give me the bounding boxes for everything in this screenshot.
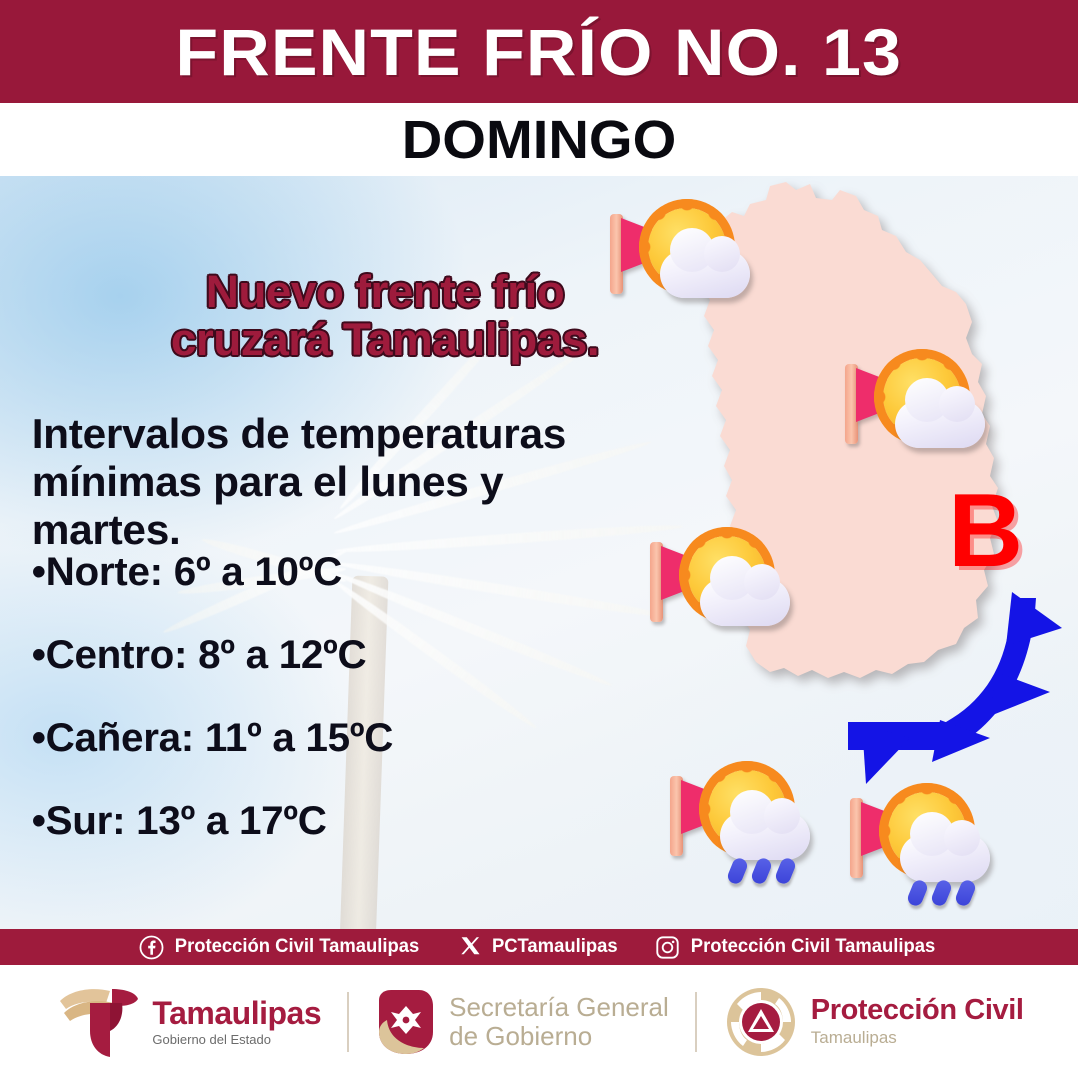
cold-front-symbol bbox=[800, 570, 1070, 830]
rain-drop-icon bbox=[954, 878, 978, 908]
secretaria-wordmark: Secretaría General de Gobierno bbox=[449, 993, 669, 1051]
footer-logo-strip: Tamaulipas Gobierno del Estado Secretarí… bbox=[0, 965, 1078, 1079]
headline: Nuevo frente frío cruzará Tamaulipas. bbox=[120, 268, 650, 363]
cold-front-barb bbox=[990, 672, 1050, 716]
proteccion-tagline: Tamaulipas bbox=[811, 1028, 1024, 1048]
body-line-3: martes. bbox=[32, 506, 699, 554]
facebook-icon[interactable] bbox=[139, 935, 164, 960]
cloud-icon bbox=[720, 812, 810, 860]
cloud-icon bbox=[700, 578, 790, 626]
logo-tamaulipas: Tamaulipas Gobierno del Estado bbox=[28, 983, 347, 1061]
weather-icon-suroeste bbox=[668, 770, 818, 880]
poster-root: FRENTE FRÍO NO. 13 DOMINGO Nuevo frente … bbox=[0, 0, 1078, 1079]
headline-line-2: cruzará Tamaulipas. bbox=[120, 316, 650, 364]
list-item: •Sur: 13º a 17ºC bbox=[32, 799, 678, 844]
secretaria-line-1: Secretaría General bbox=[449, 993, 669, 1022]
proteccion-name: Protección Civil bbox=[811, 996, 1024, 1025]
list-item: •Norte: 6º a 10ºC bbox=[32, 550, 678, 595]
proteccion-civil-icon bbox=[723, 984, 799, 1060]
proteccion-wordmark: Protección Civil Tamaulipas bbox=[811, 996, 1024, 1048]
rain-drop-icon bbox=[930, 878, 954, 908]
x-icon[interactable] bbox=[459, 935, 483, 959]
rain-drop-icon bbox=[906, 878, 930, 908]
rain-drops-icon bbox=[730, 858, 820, 882]
body-line-1: Intervalos de temperaturas bbox=[32, 410, 699, 458]
weather-icon-norte bbox=[608, 208, 758, 318]
secretaria-line-2: de Gobierno bbox=[449, 1022, 669, 1051]
cloud-icon bbox=[895, 400, 985, 448]
rain-drop-icon bbox=[774, 856, 798, 886]
social-bar: Protección Civil Tamaulipas PCTamaulipas… bbox=[0, 929, 1078, 965]
secretaria-general-icon bbox=[375, 988, 437, 1056]
body-copy: Intervalos de temperaturas mínimas para … bbox=[32, 410, 699, 554]
cloud-icon bbox=[900, 834, 990, 882]
rain-drop-icon bbox=[726, 856, 750, 886]
social-account-instagram[interactable]: Protección Civil Tamaulipas bbox=[655, 935, 939, 960]
body-line-2: mínimas para el lunes y bbox=[32, 458, 699, 506]
weather-icon-centro bbox=[648, 536, 798, 646]
tamaulipas-wordmark: Tamaulipas Gobierno del Estado bbox=[152, 997, 321, 1047]
temperature-list: •Norte: 6º a 10ºC •Centro: 8º a 12ºC •Ca… bbox=[35, 550, 675, 844]
social-account-x[interactable]: PCTamaulipas bbox=[459, 935, 620, 959]
logo-secretaria-general: Secretaría General de Gobierno bbox=[349, 988, 695, 1056]
weather-icon-noreste bbox=[843, 358, 993, 468]
tamaulipas-name: Tamaulipas bbox=[152, 997, 321, 1029]
social-account-facebook[interactable]: Protección Civil Tamaulipas bbox=[139, 935, 423, 960]
headline-line-1: Nuevo frente frío bbox=[120, 268, 650, 316]
social-handle-instagram[interactable]: Protección Civil Tamaulipas bbox=[691, 936, 935, 958]
list-item: •Cañera: 11º a 15ºC bbox=[32, 716, 678, 761]
instagram-icon[interactable] bbox=[655, 935, 680, 960]
logo-proteccion-civil: Protección Civil Tamaulipas bbox=[697, 984, 1050, 1060]
tamaulipas-tagline: Gobierno del Estado bbox=[152, 1032, 321, 1047]
rain-drop-icon bbox=[750, 856, 774, 886]
low-pressure-marker: B bbox=[948, 487, 1023, 575]
tamaulipas-t-icon bbox=[54, 983, 140, 1061]
social-handle-facebook[interactable]: Protección Civil Tamaulipas bbox=[174, 936, 418, 958]
social-handle-x[interactable]: PCTamaulipas bbox=[492, 936, 618, 958]
list-item: •Centro: 8º a 12ºC bbox=[32, 633, 678, 678]
rain-drops-icon bbox=[910, 880, 1000, 904]
cloud-icon bbox=[660, 250, 750, 298]
